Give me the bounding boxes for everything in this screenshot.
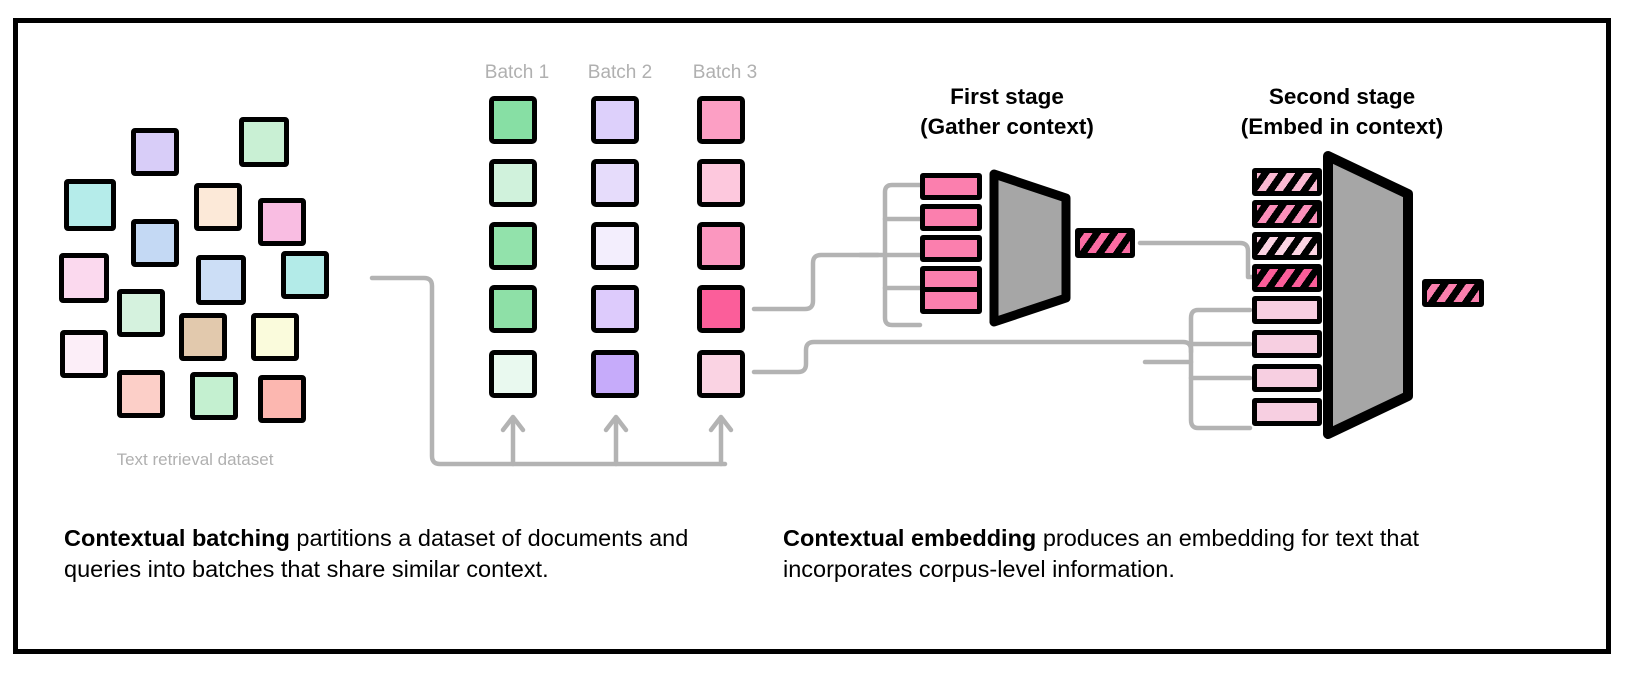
batch-3-item-3 (697, 222, 745, 270)
second-stage-token-1 (1252, 168, 1322, 196)
second-stage-token-3 (1252, 232, 1322, 260)
batch-3-item-2 (697, 159, 745, 207)
second-stage-encoder (1320, 150, 1416, 440)
batch-1-item-2 (489, 159, 537, 207)
second-stage-token-2-fill (1257, 205, 1317, 223)
batch-2-item-1 (591, 96, 639, 144)
batch-1-item-5 (489, 350, 537, 398)
batch-2-item-2 (591, 159, 639, 207)
dataset-document-square (194, 183, 242, 231)
second-stage-token-4-fill (1257, 269, 1317, 287)
second-stage-token-4 (1252, 264, 1322, 292)
contextual-embedding-token-fill (1427, 284, 1479, 302)
dataset-document-square (59, 253, 109, 303)
second-stage-token-6 (1252, 330, 1322, 358)
batch-3-item-5 (697, 350, 745, 398)
dataset-document-square (196, 255, 246, 305)
batch-label-2: Batch 2 (584, 62, 656, 84)
second-stage-token-5-fill (1257, 301, 1317, 319)
second-stage-token-8 (1252, 398, 1322, 426)
first-stage-title: First stage (Gather context) (884, 82, 1130, 141)
dataset-document-square (190, 372, 238, 420)
dataset-document-square (64, 179, 116, 231)
batch-2-item-5 (591, 350, 639, 398)
dataset-document-square (258, 375, 306, 423)
first-stage-token-2-fill (925, 209, 977, 226)
first-stage-token-5-fill (925, 292, 977, 309)
dataset-document-square (281, 251, 329, 299)
batch-3-item-4 (697, 285, 745, 333)
contextual-embedding-token (1422, 279, 1484, 307)
second-stage-token-3-fill (1257, 237, 1317, 255)
first-stage-token-1-fill (925, 178, 977, 195)
second-stage-token-1-fill (1257, 173, 1317, 191)
context-token-fill (1080, 233, 1130, 253)
first-stage-token-1 (920, 173, 982, 200)
batch-1-item-1 (489, 96, 537, 144)
batch-1-item-4 (489, 285, 537, 333)
second-stage-token-5 (1252, 296, 1322, 324)
first-stage-token-3-fill (925, 240, 977, 257)
dataset-document-square (117, 289, 165, 337)
batch-label-3: Batch 3 (689, 62, 761, 84)
second-stage-token-6-fill (1257, 335, 1317, 353)
first-stage-token-4-fill (925, 271, 977, 288)
second-stage-title: Second stage (Embed in context) (1219, 82, 1465, 141)
caption-left: Contextual batching partitions a dataset… (64, 523, 724, 586)
dataset-document-square (131, 128, 179, 176)
figure-canvas: Text retrieval dataset Batch 1Batch 2Bat… (0, 0, 1634, 680)
dataset-document-square (239, 117, 289, 167)
first-stage-token-5 (920, 287, 982, 314)
batch-3-item-1 (697, 96, 745, 144)
first-stage-token-2 (920, 204, 982, 231)
dataset-document-square (60, 330, 108, 378)
context-token (1075, 228, 1135, 258)
batch-1-item-3 (489, 222, 537, 270)
dataset-document-square (258, 198, 306, 246)
first-stage-encoder (988, 168, 1072, 328)
second-stage-token-7 (1252, 364, 1322, 392)
caption-right-bold: Contextual embedding (783, 525, 1036, 551)
dataset-document-square (251, 313, 299, 361)
dataset-document-square (179, 313, 227, 361)
batch-label-1: Batch 1 (481, 62, 553, 84)
figure-root: Text retrieval dataset Batch 1Batch 2Bat… (0, 0, 1634, 680)
first-stage-token-3 (920, 235, 982, 262)
second-stage-token-8-fill (1257, 403, 1317, 421)
second-stage-token-7-fill (1257, 369, 1317, 387)
caption-right: Contextual embedding produces an embeddi… (783, 523, 1493, 586)
dataset-document-square (131, 219, 179, 267)
second-stage-token-2 (1252, 200, 1322, 228)
caption-left-bold: Contextual batching (64, 525, 290, 551)
batch-2-item-3 (591, 222, 639, 270)
dataset-document-square (117, 370, 165, 418)
batch-2-item-4 (591, 285, 639, 333)
dataset-label: Text retrieval dataset (100, 450, 290, 470)
